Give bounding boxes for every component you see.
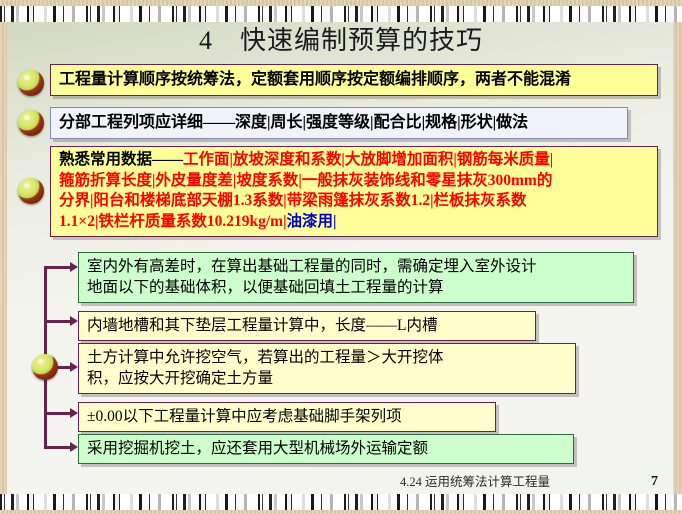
statement-box-8-line-1: 采用挖掘机挖土，应还套用大型机械场外运输定额: [87, 438, 566, 459]
connector-arrow-2: [70, 316, 78, 326]
statement-box-6: 土方计算中允许挖空气，若算出的工程量＞大开挖体 积，应按大开挖确定土方量: [78, 343, 576, 394]
statement-box-6-line-1: 土方计算中允许挖空气，若算出的工程量＞大开挖体: [87, 347, 568, 368]
connector-arrow-5: [70, 442, 78, 452]
statement-box-7-line-1: ±0.00以下工程量计算中应考虑基础脚手架列项: [87, 406, 488, 427]
page-number: 7: [651, 474, 658, 490]
bullet-point-4: [32, 354, 58, 380]
slide-title-band: 4 快速编制预算的技巧: [0, 22, 682, 62]
connector-branch-2: [44, 320, 72, 323]
statement-box-1-line-1: 工程量计算顺序按统筹法，定额套用顺序按定额编排顺序，两者不能混淆: [59, 68, 650, 91]
statement-box-3: 熟悉常用数据——工作面|放坡深度和系数|大放脚增加面积|钢筋每米质量| 箍筋折算…: [50, 146, 658, 237]
slide-border-right: [673, 0, 682, 514]
barcode-strip-top: [0, 6, 682, 22]
connector-arrow-3: [70, 362, 78, 372]
connector-arrow-1: [70, 262, 78, 272]
statement-box-5: 内墙地槽和其下垫层工程量计算中，长度——L内槽: [78, 311, 536, 341]
statement-box-3-line-3: 分界|阳台和楼梯底部天棚1.3系数|带梁雨篷抹灰系数1.2|栏板抹灰系数: [59, 191, 650, 212]
statement-box-3-line-1: 熟悉常用数据——工作面|放坡深度和系数|大放脚增加面积|钢筋每米质量|: [59, 150, 650, 171]
connector-arrow-4: [70, 408, 78, 418]
statement-box-2: 分部工程列项应详细——深度|周长|强度等级|配合比|规格|形状|做法: [50, 107, 628, 139]
statement-box-7: ±0.00以下工程量计算中应考虑基础脚手架列项: [78, 402, 496, 432]
bullet-point-1: [18, 70, 44, 96]
statement-box-3-lead: 熟悉常用数据——: [59, 151, 183, 168]
statement-box-3-line-1-red: 工作面|放坡深度和系数|大放脚增加面积|钢筋每米质量|: [183, 151, 553, 168]
statement-box-3-line-4: 1.1×2|铁栏杆质量系数10.219kg/m|油漆用|: [59, 212, 650, 233]
connector-branch-4: [44, 412, 72, 415]
statement-box-1: 工程量计算顺序按统筹法，定额套用顺序按定额编排顺序，两者不能混淆: [50, 64, 658, 96]
connector-branch-5: [44, 446, 72, 449]
statement-box-6-line-2: 积，应按大开挖确定土方量: [87, 368, 568, 389]
page-title: 4 快速编制预算的技巧: [199, 26, 483, 55]
footer-section-label: 4.24 运用统筹法计算工程量: [400, 471, 550, 490]
statement-box-8: 采用挖掘机挖土，应还套用大型机械场外运输定额: [78, 434, 574, 464]
slide-border-left: [0, 0, 7, 514]
statement-box-3-line-4-blue: 油漆用|: [287, 213, 337, 230]
statement-box-4: 室内外有高差时，在算出基础工程量的同时，需确定埋入室外设计 地面以下的基础体积，…: [78, 252, 634, 303]
bullet-point-3: [18, 178, 44, 204]
statement-box-5-line-1: 内墙地槽和其下垫层工程量计算中，长度——L内槽: [87, 315, 528, 336]
barcode-strip-bottom: [0, 494, 682, 510]
statement-box-3-line-2: 箍筋折算长度|外皮量度差|坡度系数|一般抹灰装饰线和零星抹灰300mm的: [59, 171, 650, 192]
statement-box-4-line-1: 室内外有高差时，在算出基础工程量的同时，需确定埋入室外设计: [87, 256, 626, 277]
statement-box-4-line-2: 地面以下的基础体积，以便基础回填土工程量的计算: [87, 277, 626, 298]
statement-box-3-line-4-red: 1.1×2|铁栏杆质量系数10.219kg/m|: [59, 213, 287, 230]
slide-canvas: 4 快速编制预算的技巧 工程量计算顺序按统筹法，定额套用顺序按定额编排顺序，两者…: [0, 0, 682, 514]
bullet-point-2: [18, 110, 44, 136]
slide-border-bottom: [0, 510, 682, 514]
connector-branch-1: [44, 266, 72, 269]
statement-box-2-line-1: 分部工程列项应详细——深度|周长|强度等级|配合比|规格|形状|做法: [59, 111, 620, 134]
